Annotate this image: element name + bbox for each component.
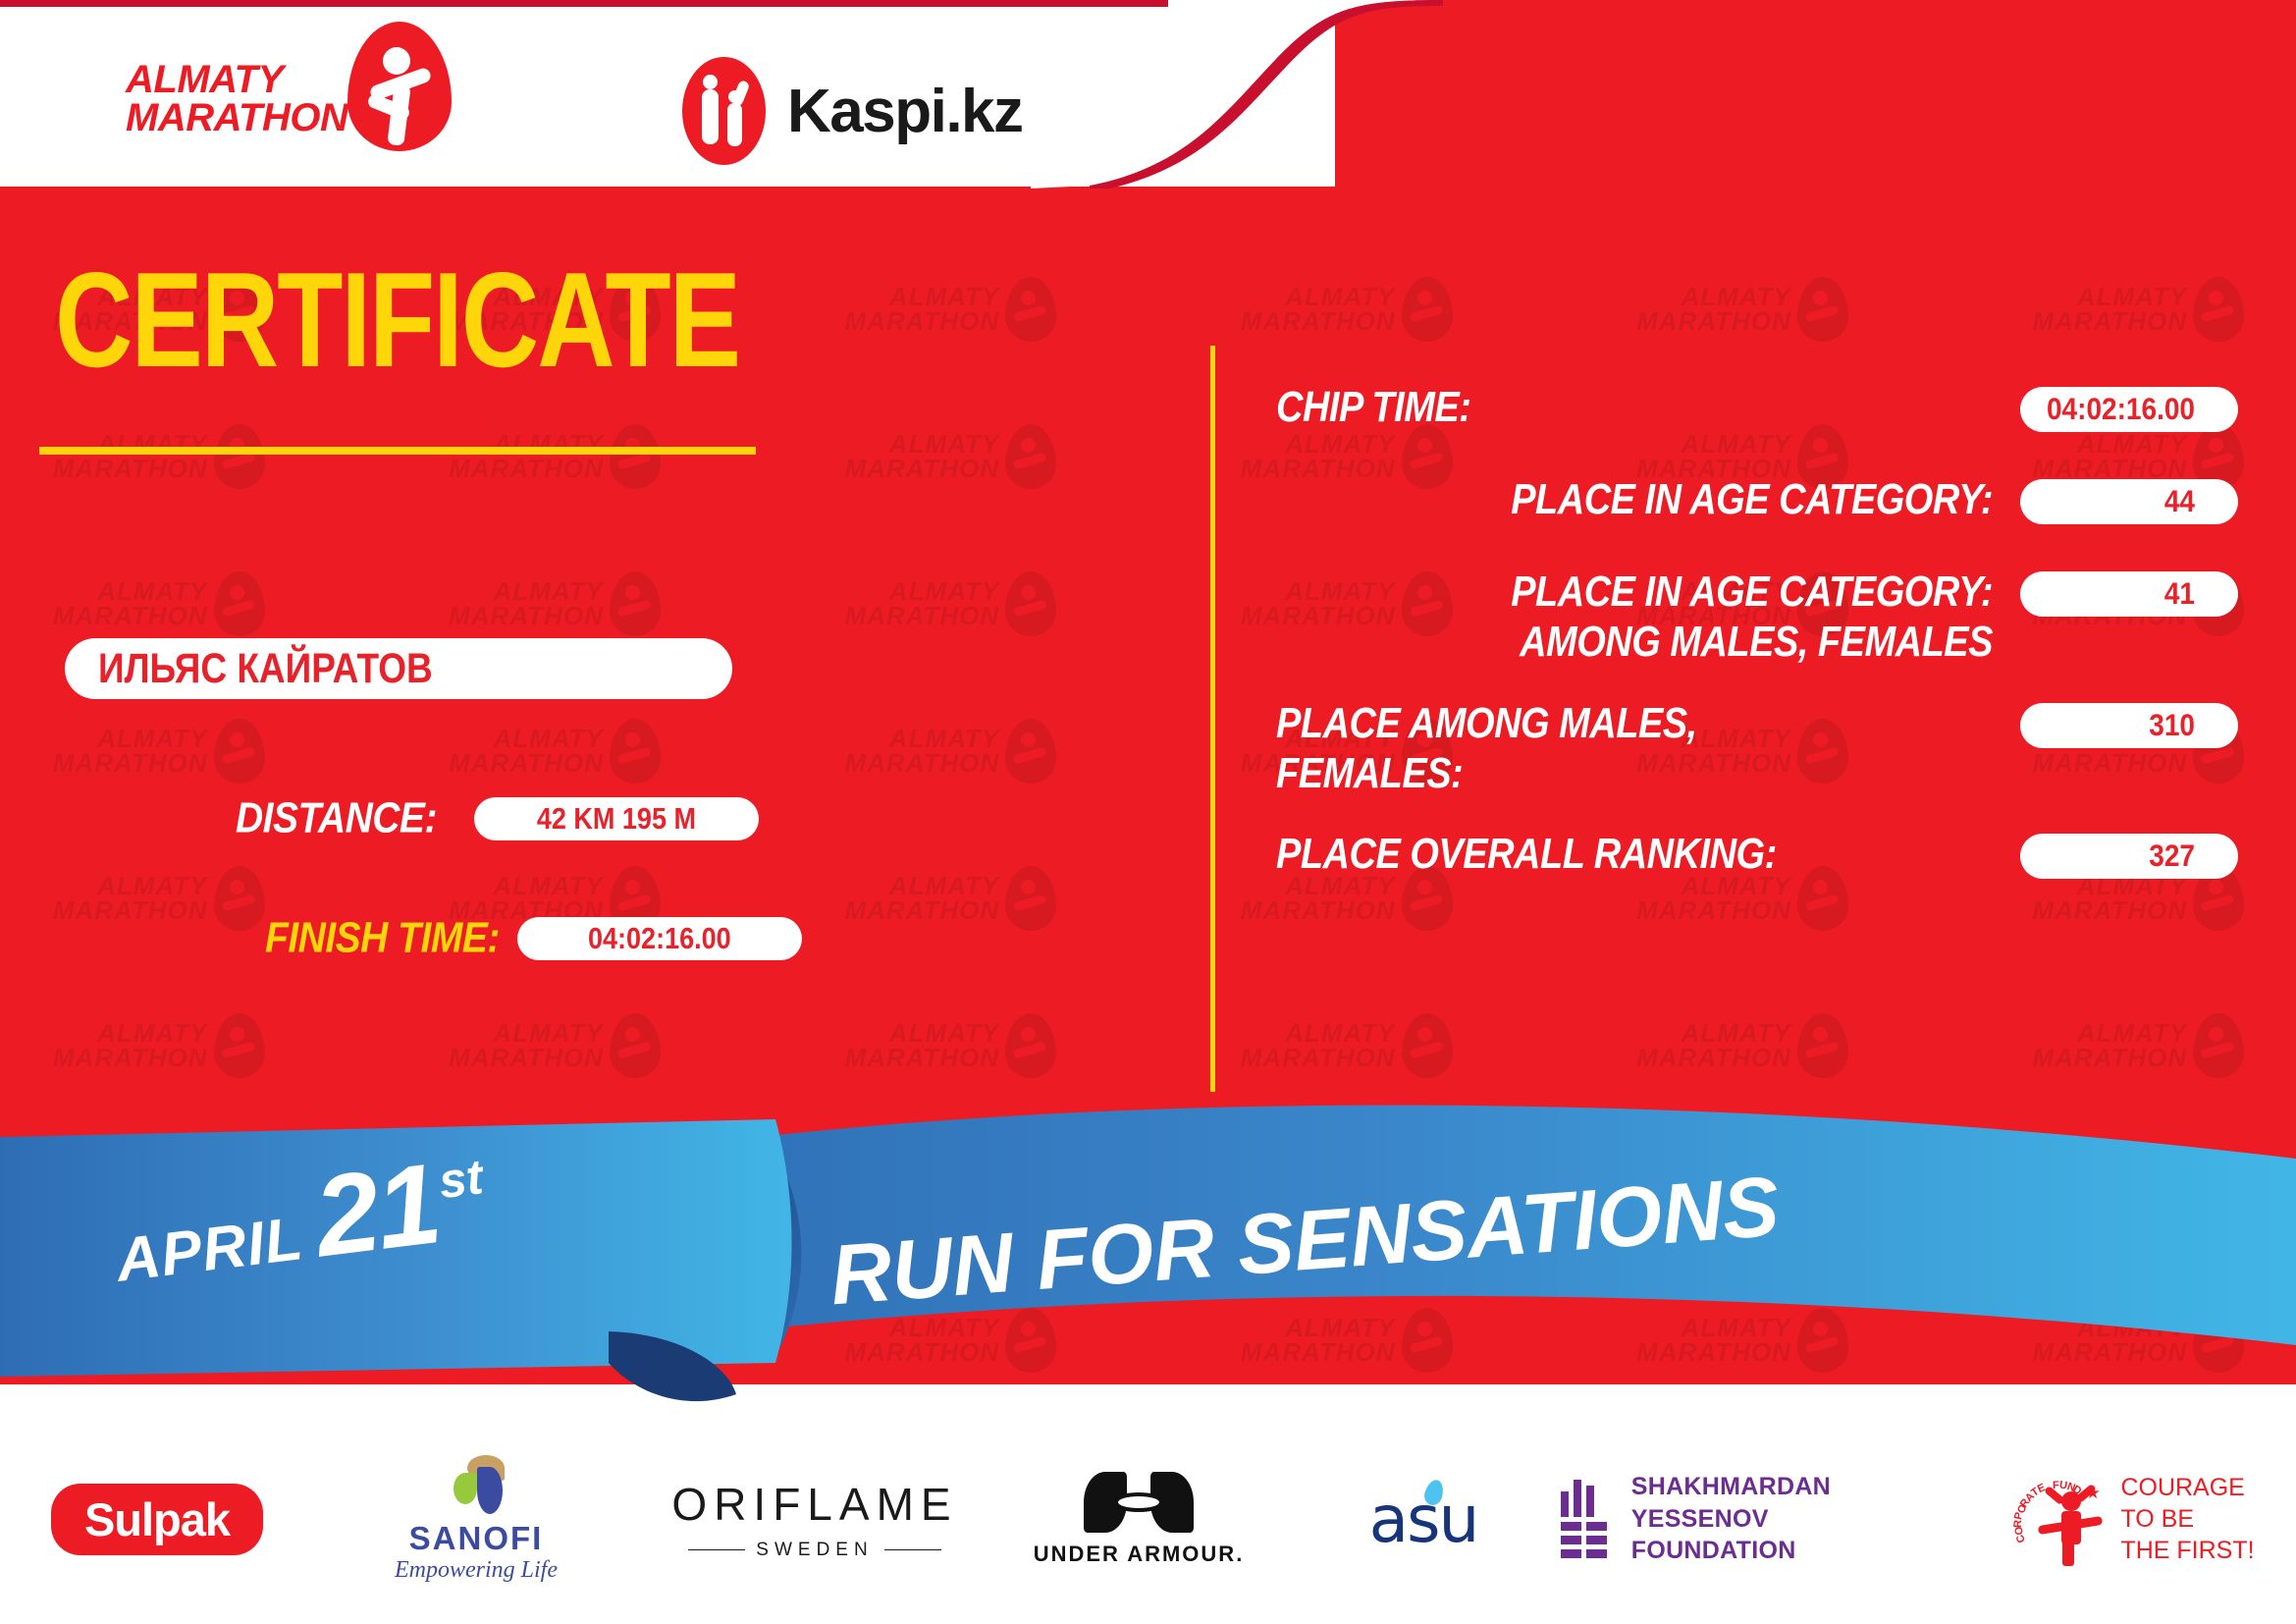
kaspi-logo: Kaspi.kz — [682, 57, 1023, 165]
courage-logo-line2: TO BE — [2120, 1503, 2254, 1535]
sponsor-under-armour: UNDER ARMOUR. — [991, 1472, 1286, 1567]
watermark-drop-icon — [214, 571, 265, 636]
sponsor-bar: Sulpak SANOFI Empowering Life ORIFLAME S… — [0, 1414, 2296, 1624]
watermark-tile: ALMATYMARATHON — [1941, 236, 2296, 383]
watermark-drop-icon — [610, 719, 661, 784]
watermark-drop-icon — [214, 1013, 265, 1078]
page-title: CERTIFICATE — [55, 253, 762, 389]
watermark-text: ALMATYMARATHON — [449, 432, 604, 480]
place-age-category-among-value: 41 — [2164, 576, 2238, 612]
watermark-drop-icon — [1797, 277, 1848, 342]
yessenov-logo-line1: SHAKHMARDAN YESSENOV — [1631, 1471, 1973, 1535]
oriflame-rule-right — [884, 1549, 941, 1551]
header-swoosh-shape — [1031, 0, 1443, 189]
watermark-text: ALMATYMARATHON — [1241, 285, 1396, 333]
sponsor-courage-to-be-the-first: CORPORATE FUND ★ COURAGE TO BE THE FIRST… — [1973, 1468, 2296, 1570]
place-age-category-among-value-pill: 41 — [2020, 571, 2238, 617]
watermark-text: ALMATYMARATHON — [1636, 285, 1791, 333]
place-among-males-females-label-line1: PLACE AMONG MALES, — [1276, 699, 2001, 749]
stat-row-place-overall-ranking: PLACE OVERALL RANKING: 327 — [1276, 830, 2238, 879]
kaspi-logo-text: Kaspi.kz — [787, 77, 1023, 146]
watermark-text: ALMATYMARATHON — [53, 874, 208, 922]
oriflame-rule-left — [688, 1549, 745, 1551]
kaspi-people-icon — [682, 57, 766, 165]
sponsor-asu: asu — [1286, 1482, 1561, 1557]
watermark-text: ALMATYMARATHON — [53, 727, 208, 775]
stat-row-place-among-males-females: PLACE AMONG MALES, FEMALES: 310 — [1276, 699, 2238, 787]
watermark-drop-icon — [1005, 424, 1056, 489]
watermark-drop-icon — [610, 424, 661, 489]
sponsor-sulpak: Sulpak — [0, 1484, 314, 1555]
distance-label: DISTANCE: — [236, 794, 437, 842]
watermark-text: ALMATYMARATHON — [844, 727, 999, 775]
watermark-tile: ALMATYMARATHON — [356, 383, 752, 530]
corporate-fund-arc-char: R — [2012, 1520, 2024, 1528]
watermark-drop-icon — [214, 866, 265, 931]
sponsor-sanofi: SANOFI Empowering Life — [314, 1455, 638, 1584]
finish-time-value-pill: 04:02:16.00 — [517, 917, 802, 960]
ribbon-date-ordinal: st — [436, 1148, 486, 1210]
under-armour-icon — [1084, 1472, 1194, 1533]
sponsor-yessenov-foundation: SHAKHMARDAN YESSENOV FOUNDATION — [1561, 1471, 1973, 1567]
place-age-category-among-label-line2: AMONG MALES, FEMALES — [1276, 618, 1993, 668]
certificate-page: ALMATYMARATHONALMATYMARATHONALMATYMARATH… — [0, 0, 2296, 1624]
watermark-text: ALMATYMARATHON — [53, 432, 208, 480]
place-overall-ranking-value-pill: 327 — [2020, 834, 2238, 879]
asu-logo-text: asu — [1369, 1482, 1478, 1557]
stat-row-place-age-category-among: PLACE IN AGE CATEGORY: AMONG MALES, FEMA… — [1276, 568, 2238, 656]
watermark-drop-icon — [1402, 277, 1453, 342]
watermark-drop-icon — [610, 1013, 661, 1078]
watermark-drop-icon — [1402, 1013, 1453, 1078]
place-age-category-value-pill: 44 — [2020, 479, 2238, 524]
watermark-text: ALMATYMARATHON — [1241, 1021, 1396, 1069]
watermark-drop-icon — [214, 424, 265, 489]
watermark-tile: ALMATYMARATHON — [1544, 972, 1940, 1119]
watermark-text: ALMATYMARATHON — [53, 1021, 208, 1069]
watermark-tile: ALMATYMARATHON — [1148, 972, 1544, 1119]
title-underline — [39, 447, 756, 455]
place-overall-ranking-value: 327 — [2149, 839, 2238, 874]
place-age-category-value: 44 — [2164, 484, 2238, 519]
ribbon-date-month: APRIL — [112, 1204, 306, 1296]
watermark-tile: ALMATYMARATHON — [753, 530, 1148, 677]
watermark-text: ALMATYMARATHON — [53, 579, 208, 627]
almaty-marathon-logo-line2: MARATHON — [126, 99, 347, 137]
distance-row: DISTANCE: 42 KM 195 M — [236, 797, 759, 840]
place-among-males-females-label-line2: FEMALES: — [1276, 749, 2001, 799]
watermark-drop-icon — [1005, 571, 1056, 636]
watermark-tile: ALMATYMARATHON — [1148, 236, 1544, 383]
watermark-drop-icon — [2193, 1013, 2244, 1078]
oriflame-tagline: SWEDEN — [756, 1540, 873, 1561]
sponsor-oriflame: ORIFLAME SWEDEN — [638, 1478, 991, 1561]
stat-row-place-age-category: PLACE IN AGE CATEGORY: 44 — [1276, 475, 2238, 524]
almaty-marathon-logo-line1: ALMATY — [126, 61, 347, 99]
chip-time-label: CHIP TIME: — [1276, 383, 2020, 433]
column-divider — [1210, 346, 1215, 1092]
almaty-marathon-logo: ALMATY MARATHON — [126, 47, 452, 151]
watermark-drop-icon — [214, 719, 265, 784]
watermark-drop-icon — [1797, 1013, 1848, 1078]
watermark-text: ALMATYMARATHON — [844, 432, 999, 480]
sulpak-logo-text: Sulpak — [51, 1484, 263, 1555]
watermark-drop-icon — [1005, 719, 1056, 784]
watermark-text: ALMATYMARATHON — [844, 874, 999, 922]
watermark-drop-icon — [610, 571, 661, 636]
watermark-text: ALMATYMARATHON — [2032, 1021, 2187, 1069]
chip-time-value: 04:02:16.00 — [2047, 392, 2238, 427]
oriflame-logo-text: ORIFLAME — [671, 1478, 957, 1531]
watermark-text: ALMATYMARATHON — [449, 727, 604, 775]
ribbon-date-day: 21 — [308, 1137, 446, 1282]
watermark-tile: ALMATYMARATHON — [0, 383, 356, 530]
finish-time-label: FINISH TIME: — [265, 914, 500, 962]
courage-logo-line1: COURAGE — [2120, 1472, 2254, 1503]
watermark-drop-icon — [2193, 277, 2244, 342]
watermark-tile: ALMATYMARATHON — [753, 825, 1148, 972]
watermark-text: ALMATYMARATHON — [844, 285, 999, 333]
watermark-tile: ALMATYMARATHON — [0, 972, 356, 1119]
place-age-category-label: PLACE IN AGE CATEGORY: — [1276, 475, 2020, 525]
watermark-tile: ALMATYMARATHON — [753, 972, 1148, 1119]
yessenov-logo-line2: FOUNDATION — [1631, 1535, 1973, 1567]
finish-time-row: FINISH TIME: 04:02:16.00 — [265, 917, 802, 960]
place-overall-ranking-label: PLACE OVERALL RANKING: — [1276, 830, 2020, 880]
sanofi-tagline: Empowering Life — [395, 1557, 558, 1584]
watermark-text: ALMATYMARATHON — [449, 1021, 604, 1069]
stats-list: CHIP TIME: 04:02:16.00 PLACE IN AGE CATE… — [1276, 383, 2238, 922]
under-armour-logo-text: UNDER ARMOUR. — [1034, 1542, 1245, 1567]
place-among-males-females-label: PLACE AMONG MALES, FEMALES: — [1276, 699, 2020, 799]
finish-time-value: 04:02:16.00 — [588, 922, 731, 956]
sanofi-mark-icon — [444, 1455, 508, 1516]
participant-name-value: ИЛЬЯС КАЙРАТОВ — [65, 645, 433, 692]
sanofi-logo-text: SANOFI — [395, 1520, 558, 1557]
watermark-text: ALMATYMARATHON — [2032, 285, 2187, 333]
watermark-text: ALMATYMARATHON — [844, 1021, 999, 1069]
place-age-category-among-label: PLACE IN AGE CATEGORY: AMONG MALES, FEMA… — [1276, 568, 2020, 668]
watermark-drop-icon — [1005, 277, 1056, 342]
watermark-tile: ALMATYMARATHON — [753, 383, 1148, 530]
distance-value: 42 KM 195 M — [537, 802, 696, 837]
watermark-tile: ALMATYMARATHON — [753, 677, 1148, 825]
place-among-males-females-value: 310 — [2149, 708, 2238, 743]
chip-time-value-pill: 04:02:16.00 — [2020, 387, 2238, 432]
header-top-rule — [0, 0, 1168, 7]
watermark-text: ALMATYMARATHON — [449, 579, 604, 627]
yessenov-mark-icon — [1561, 1480, 1610, 1558]
watermark-text: ALMATYMARATHON — [1636, 1021, 1791, 1069]
watermark-tile: ALMATYMARATHON — [1544, 236, 1940, 383]
distance-value-pill: 42 KM 195 M — [474, 797, 759, 840]
watermark-tile: ALMATYMARATHON — [356, 972, 752, 1119]
courage-logo-line3: THE FIRST! — [2120, 1535, 2254, 1566]
watermark-tile: ALMATYMARATHON — [1941, 972, 2296, 1119]
participant-name-field: ИЛЬЯС КАЙРАТОВ — [65, 638, 732, 699]
place-age-category-among-label-line1: PLACE IN AGE CATEGORY: — [1276, 568, 1993, 618]
place-among-males-females-value-pill: 310 — [2020, 703, 2238, 748]
watermark-drop-icon — [1005, 1013, 1056, 1078]
watermark-tile: ALMATYMARATHON — [753, 236, 1148, 383]
stat-row-chip-time: CHIP TIME: 04:02:16.00 — [1276, 383, 2238, 432]
watermark-drop-icon — [1005, 866, 1056, 931]
watermark-text: ALMATYMARATHON — [844, 579, 999, 627]
courage-fund-icon: CORPORATE FUND ★ — [2014, 1468, 2109, 1570]
